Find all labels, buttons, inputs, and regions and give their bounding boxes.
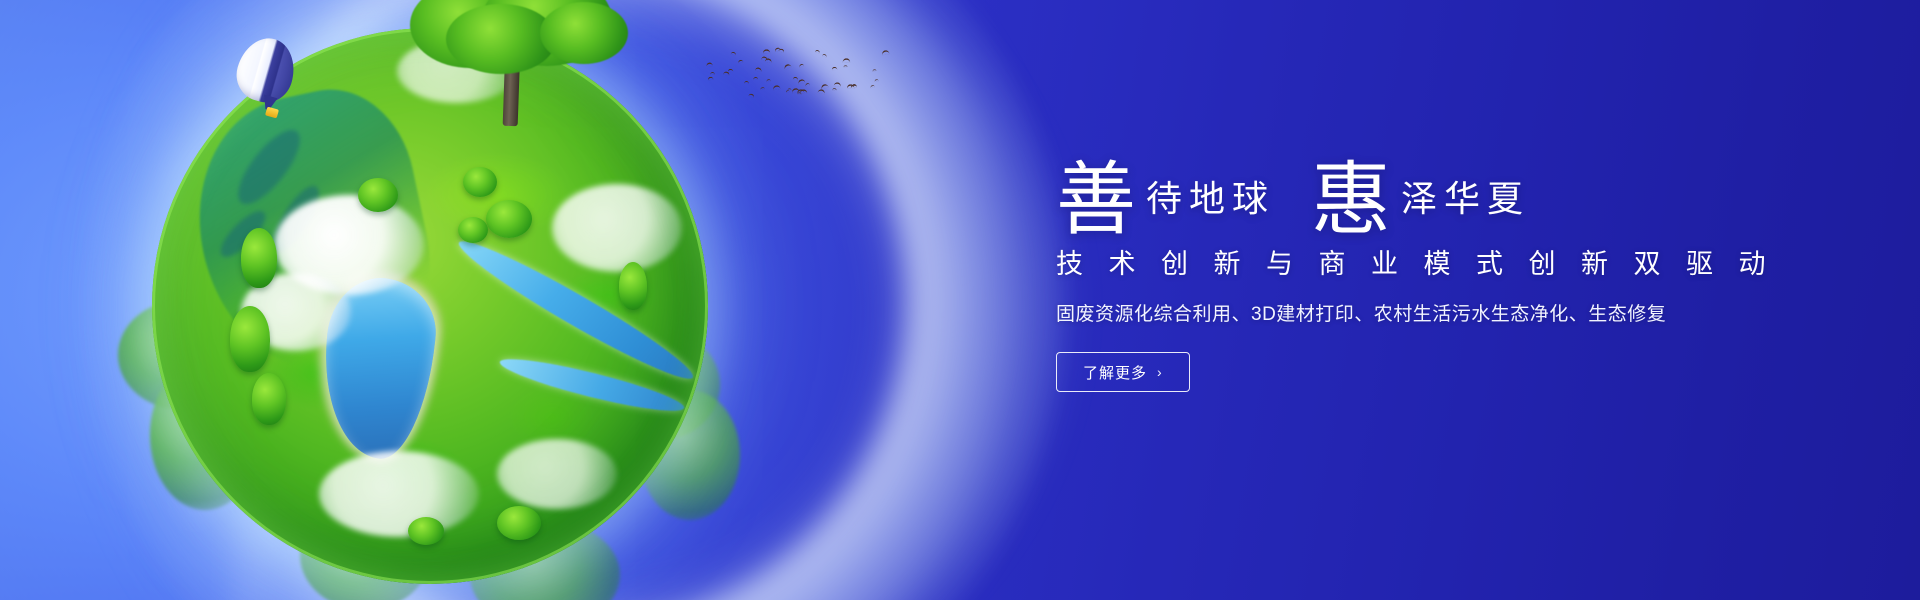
bird-icon bbox=[738, 59, 744, 64]
bird-icon bbox=[846, 84, 854, 89]
bird-icon bbox=[755, 67, 762, 72]
headline-phrase-2: 惠 泽华夏 bbox=[1311, 158, 1530, 230]
bird-icon bbox=[779, 48, 786, 53]
headline-phrase-1: 善 待地球 bbox=[1056, 158, 1275, 230]
bird-icon bbox=[706, 62, 713, 67]
bird-icon bbox=[874, 78, 879, 82]
bird-icon bbox=[753, 77, 758, 81]
bird-icon bbox=[710, 72, 715, 75]
birds-flock-icon bbox=[700, 48, 900, 108]
bird-icon bbox=[765, 58, 773, 64]
hot-air-balloon-icon bbox=[238, 38, 294, 130]
bird-icon bbox=[815, 50, 820, 54]
learn-more-button[interactable]: 了解更多 › bbox=[1056, 352, 1190, 392]
bird-icon bbox=[730, 51, 736, 55]
page-description: 固废资源化综合利用、3D建材打印、农村生活污水生态净化、生态修复 bbox=[1056, 299, 1816, 326]
bird-icon bbox=[881, 50, 889, 56]
bird-icon bbox=[843, 66, 847, 69]
learn-more-label: 了解更多 bbox=[1083, 362, 1147, 383]
bird-icon bbox=[872, 69, 876, 72]
hero-content: 善 待地球 惠 泽华夏 技 术 创 新 与 商 业 模 式 创 新 双 驱 动 … bbox=[1056, 120, 1816, 392]
bird-icon bbox=[783, 64, 791, 71]
page-subtitle: 技 术 创 新 与 商 业 模 式 创 新 双 驱 动 bbox=[1056, 242, 1816, 281]
headline-rest-chars-1: 待地球 bbox=[1146, 182, 1275, 218]
headline-lead-char-1: 善 bbox=[1056, 164, 1136, 236]
bird-icon bbox=[763, 49, 771, 54]
headline-lead-char-2: 惠 bbox=[1311, 164, 1391, 236]
bird-icon bbox=[798, 79, 806, 85]
bird-icon bbox=[799, 63, 805, 67]
balloon-basket bbox=[265, 107, 279, 119]
bird-icon bbox=[834, 82, 842, 87]
bird-icon bbox=[832, 67, 838, 71]
bird-icon bbox=[832, 88, 837, 91]
bird-icon bbox=[805, 83, 810, 87]
bird-icon bbox=[707, 76, 713, 80]
bird-icon bbox=[792, 76, 798, 80]
bird-icon bbox=[787, 88, 791, 90]
tree-canopy bbox=[446, 4, 556, 74]
bird-icon bbox=[748, 93, 755, 98]
hero-banner: 善 待地球 惠 泽华夏 技 术 创 新 与 商 业 模 式 创 新 双 驱 动 … bbox=[0, 0, 1920, 600]
bird-icon bbox=[822, 54, 827, 58]
bird-icon bbox=[744, 81, 749, 84]
bird-icon bbox=[760, 87, 765, 90]
bird-icon bbox=[870, 85, 875, 89]
bird-icon bbox=[773, 85, 781, 91]
bird-icon bbox=[842, 58, 850, 63]
bird-icon bbox=[766, 78, 771, 82]
page-title: 善 待地球 惠 泽华夏 bbox=[1056, 120, 1816, 230]
tree-canopy bbox=[540, 2, 628, 64]
chevron-right-icon: › bbox=[1157, 364, 1163, 380]
large-tree-icon bbox=[400, 0, 630, 132]
headline-rest-chars-2: 泽华夏 bbox=[1401, 182, 1530, 218]
bird-icon bbox=[820, 83, 828, 90]
